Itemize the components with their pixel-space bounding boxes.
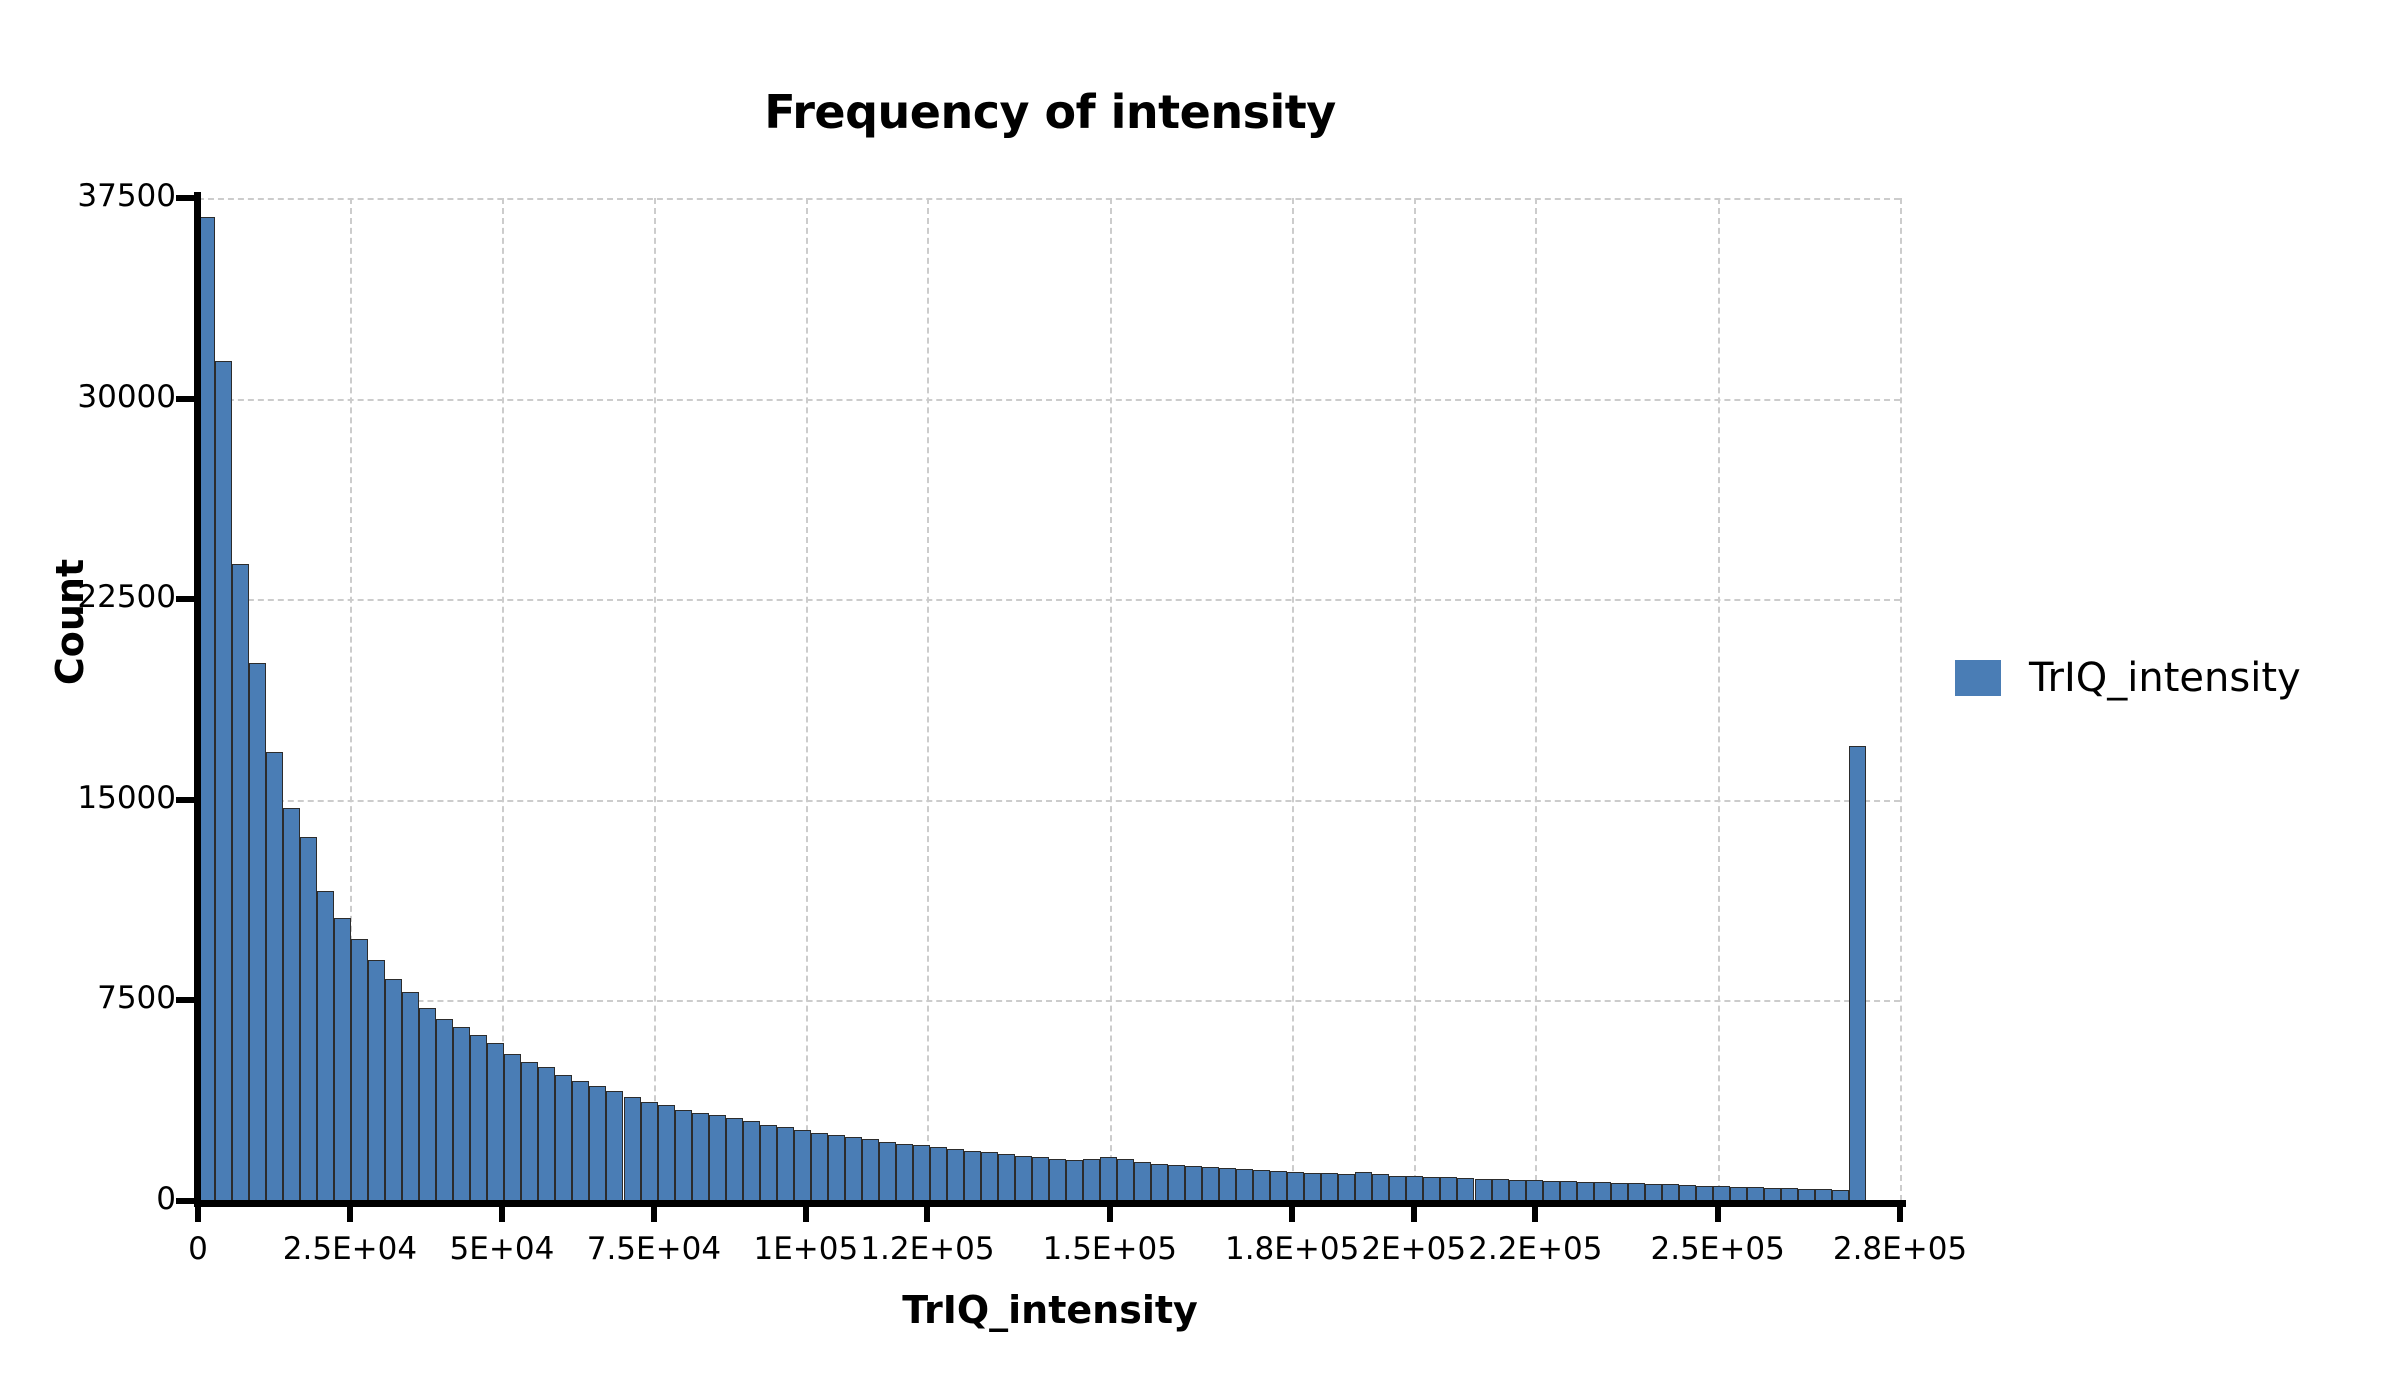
x-tick-mark xyxy=(1107,1200,1113,1222)
bar xyxy=(1747,1187,1764,1201)
legend-label-triq-intensity: TrIQ_intensity xyxy=(2029,655,2301,701)
bar xyxy=(1526,1180,1543,1201)
bar xyxy=(1645,1184,1662,1201)
y-axis-line xyxy=(194,192,201,1207)
bar xyxy=(1577,1182,1594,1201)
bar xyxy=(1679,1185,1696,1201)
bar xyxy=(334,918,351,1202)
bar xyxy=(436,1019,453,1201)
x-tick-label: 2E+05 xyxy=(1361,1231,1466,1267)
x-tick-mark xyxy=(1715,1200,1721,1222)
bar xyxy=(896,1144,913,1202)
x-tick-mark xyxy=(1289,1200,1295,1222)
bar xyxy=(1032,1157,1049,1201)
bar xyxy=(487,1043,504,1201)
x-tick-label: 2.8E+05 xyxy=(1833,1231,1967,1267)
y-tick-label: 37500 xyxy=(77,178,176,214)
bar xyxy=(828,1135,845,1201)
bar xyxy=(470,1035,487,1201)
x-tick-mark xyxy=(499,1200,505,1222)
bar xyxy=(1083,1159,1100,1201)
bar xyxy=(215,361,232,1201)
bar xyxy=(760,1125,777,1201)
chart-figure: Frequency of intensity 07500150002250030… xyxy=(0,0,2400,1400)
bar xyxy=(1730,1187,1747,1201)
y-tick-mark xyxy=(176,997,198,1003)
bar xyxy=(1457,1178,1474,1201)
x-tick-label: 2.5E+05 xyxy=(1650,1231,1784,1267)
bar xyxy=(232,564,249,1201)
bar xyxy=(845,1137,862,1201)
bar xyxy=(1423,1177,1440,1201)
bar xyxy=(726,1118,743,1201)
y-tick-mark xyxy=(176,195,198,201)
bar xyxy=(1015,1156,1032,1201)
bar xyxy=(351,939,368,1201)
bar xyxy=(368,960,385,1201)
x-tick-mark xyxy=(347,1200,353,1222)
x-tick-mark xyxy=(195,1200,201,1222)
bar xyxy=(794,1130,811,1201)
bar xyxy=(419,1008,436,1201)
bar xyxy=(1304,1173,1321,1201)
bar xyxy=(947,1149,964,1201)
x-axis-title: TrIQ_intensity xyxy=(200,1288,1900,1332)
bar xyxy=(981,1152,998,1201)
bar xyxy=(555,1075,572,1201)
bar xyxy=(1662,1184,1679,1201)
bar xyxy=(641,1102,658,1201)
bar xyxy=(692,1113,709,1201)
bar xyxy=(1611,1183,1628,1201)
bar xyxy=(453,1027,470,1201)
legend-swatch-triq-intensity xyxy=(1955,660,2001,696)
bar xyxy=(1509,1180,1526,1201)
bar xyxy=(811,1133,828,1201)
bar xyxy=(1764,1188,1781,1201)
bar xyxy=(1270,1171,1287,1201)
bar xyxy=(1134,1162,1151,1201)
bar xyxy=(572,1081,589,1201)
y-axis-title: Count xyxy=(48,522,92,722)
bar xyxy=(266,752,283,1201)
bar xyxy=(624,1097,641,1201)
x-tick-label: 1.5E+05 xyxy=(1043,1231,1177,1267)
bar xyxy=(1100,1157,1117,1201)
bar xyxy=(675,1110,692,1201)
bar xyxy=(1594,1182,1611,1201)
x-tick-mark xyxy=(924,1200,930,1222)
bar xyxy=(1849,746,1866,1201)
x-tick-mark xyxy=(1897,1200,1903,1222)
page-title: Frequency of intensity xyxy=(200,85,1900,139)
bar xyxy=(521,1062,538,1201)
y-tick-mark xyxy=(176,797,198,803)
x-tick-mark xyxy=(803,1200,809,1222)
bar xyxy=(1287,1172,1304,1201)
x-tick-label: 1.8E+05 xyxy=(1225,1231,1359,1267)
bar xyxy=(743,1121,760,1201)
x-axis-line xyxy=(194,1200,1906,1207)
x-tick-label: 1E+05 xyxy=(753,1231,858,1267)
bar xyxy=(1560,1181,1577,1201)
bar xyxy=(777,1127,794,1201)
bar xyxy=(385,979,402,1201)
bar xyxy=(538,1067,555,1201)
bar xyxy=(1543,1181,1560,1201)
bar xyxy=(1372,1174,1389,1201)
bar xyxy=(862,1139,879,1201)
bar xyxy=(1713,1186,1730,1201)
x-tick-label: 2.5E+04 xyxy=(283,1231,417,1267)
bar xyxy=(1338,1174,1355,1201)
x-tick-mark xyxy=(1411,1200,1417,1222)
bar xyxy=(913,1145,930,1201)
bar xyxy=(1696,1186,1713,1202)
bar xyxy=(1253,1170,1270,1201)
bar xyxy=(589,1086,606,1201)
bar xyxy=(1236,1169,1253,1201)
bar xyxy=(879,1142,896,1201)
bar xyxy=(709,1115,726,1201)
x-tick-label: 0 xyxy=(188,1231,208,1267)
bar xyxy=(658,1105,675,1201)
bar xyxy=(249,663,266,1201)
plot-area xyxy=(198,198,1900,1201)
bar xyxy=(964,1151,981,1201)
bar-series xyxy=(198,198,1900,1201)
bar xyxy=(1440,1177,1457,1201)
bar xyxy=(1151,1164,1168,1201)
bar xyxy=(1406,1176,1423,1201)
bar xyxy=(1355,1172,1372,1201)
y-tick-label: 30000 xyxy=(77,379,176,415)
y-tick-label: 22500 xyxy=(77,579,176,615)
x-tick-label: 7.5E+04 xyxy=(587,1231,721,1267)
bar xyxy=(317,891,334,1201)
y-tick-label: 7500 xyxy=(97,980,176,1016)
bar xyxy=(402,992,419,1201)
bar xyxy=(1202,1167,1219,1201)
bar xyxy=(1185,1166,1202,1201)
bar xyxy=(1049,1159,1066,1201)
bar xyxy=(606,1091,623,1201)
bar xyxy=(1168,1165,1185,1201)
bar xyxy=(930,1147,947,1201)
y-tick-label: 15000 xyxy=(77,780,176,816)
bar xyxy=(1389,1176,1406,1201)
x-tick-label: 5E+04 xyxy=(450,1231,555,1267)
bar xyxy=(1628,1183,1645,1201)
bar xyxy=(1321,1173,1338,1201)
legend: TrIQ_intensity xyxy=(1955,655,2301,701)
bar xyxy=(1066,1160,1083,1201)
x-tick-label: 1.2E+05 xyxy=(860,1231,994,1267)
bar xyxy=(300,837,317,1201)
x-tick-mark xyxy=(651,1200,657,1222)
bar xyxy=(1219,1168,1236,1201)
bar xyxy=(998,1154,1015,1201)
bar xyxy=(1492,1179,1509,1201)
bar xyxy=(283,808,300,1201)
y-tick-label: 0 xyxy=(156,1181,176,1217)
x-tick-label: 2.2E+05 xyxy=(1468,1231,1602,1267)
y-tick-mark xyxy=(176,596,198,602)
bar xyxy=(1117,1159,1134,1201)
y-tick-mark xyxy=(176,396,198,402)
gridline-vertical xyxy=(1900,198,1902,1201)
bar xyxy=(1475,1179,1492,1201)
x-tick-mark xyxy=(1532,1200,1538,1222)
bar xyxy=(504,1054,521,1201)
